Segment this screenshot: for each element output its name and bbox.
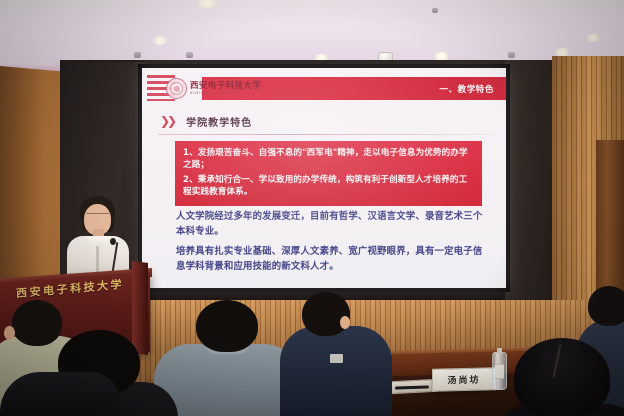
sprinkler-icon <box>186 52 193 58</box>
downlight <box>152 36 168 45</box>
slide-chapter-title: 一、教学特色 <box>439 83 494 95</box>
ceiling-fixture-icon <box>432 8 438 13</box>
body-paragraph: 培养具有扎实专业基础、深厚人文素养、宽广视野眼界，具有一定电子信息学科背景和应用… <box>176 245 484 274</box>
name-placard-text: 汤尚坊 <box>447 373 480 387</box>
wall-panel-right-dark <box>505 60 557 328</box>
audience-member-badge <box>330 354 343 363</box>
audience-member-ear <box>340 316 350 329</box>
microphone-head-icon <box>110 238 116 245</box>
sprinkler-icon <box>134 52 141 58</box>
lecture-hall-photo: 一、教学特色 西安电子科技大学 XIDIAN UNIVERSITY ❯❯ 学院教… <box>0 0 624 416</box>
audience-member-head <box>588 286 624 326</box>
university-name-en: XIDIAN UNIVERSITY <box>190 92 261 96</box>
presentation-slide: 一、教学特色 西安电子科技大学 XIDIAN UNIVERSITY ❯❯ 学院教… <box>142 68 506 288</box>
audience-member <box>500 338 624 416</box>
university-seal-icon <box>166 78 187 99</box>
speaker-presenter <box>62 196 134 280</box>
name-placard: 汤尚坊 <box>432 367 496 392</box>
slide-subheading: ❯❯ 学院教学特色 <box>160 110 492 132</box>
audience-member-ear <box>4 326 15 340</box>
audience-member-body <box>0 372 120 416</box>
slide-subheading-label: 学院教学特色 <box>186 114 252 129</box>
audience-member-body <box>280 326 392 416</box>
double-chevron-right-icon: ❯❯ <box>160 115 174 127</box>
audience-member-head <box>514 338 610 416</box>
audience-member-head <box>196 300 258 352</box>
highlight-item: 2、秉承知行合一、学以致用的办学传统，构筑有利于创新型人才培养的工程实践教育体系… <box>183 174 474 199</box>
audience-member-head <box>302 292 350 336</box>
university-logo: 西安电子科技大学 XIDIAN UNIVERSITY <box>166 77 261 100</box>
slide-highlight-box: 1、发扬艰苦奋斗、自强不息的"西军电"精神，走以电子信息为优势的办学之路； 2、… <box>175 141 482 206</box>
slide-divider <box>158 134 496 135</box>
audience-member <box>296 292 388 416</box>
body-paragraph: 人文学院经过多年的发展变迁，目前有哲学、汉语言文学、录音艺术三个本科专业。 <box>176 210 484 239</box>
slide-body-text: 人文学院经过多年的发展变迁，目前有哲学、汉语言文学、录音艺术三个本科专业。 培养… <box>176 210 484 274</box>
highlight-item: 1、发扬艰苦奋斗、自强不息的"西军电"精神，走以电子信息为优势的办学之路； <box>183 147 474 172</box>
university-name-cn: 西安电子科技大学 <box>190 82 261 91</box>
audience-member <box>158 300 294 416</box>
sprinkler-icon <box>508 52 515 58</box>
speaker-face <box>86 213 109 220</box>
downlight <box>586 34 600 42</box>
downlight <box>196 0 218 8</box>
audience-member <box>0 372 120 416</box>
